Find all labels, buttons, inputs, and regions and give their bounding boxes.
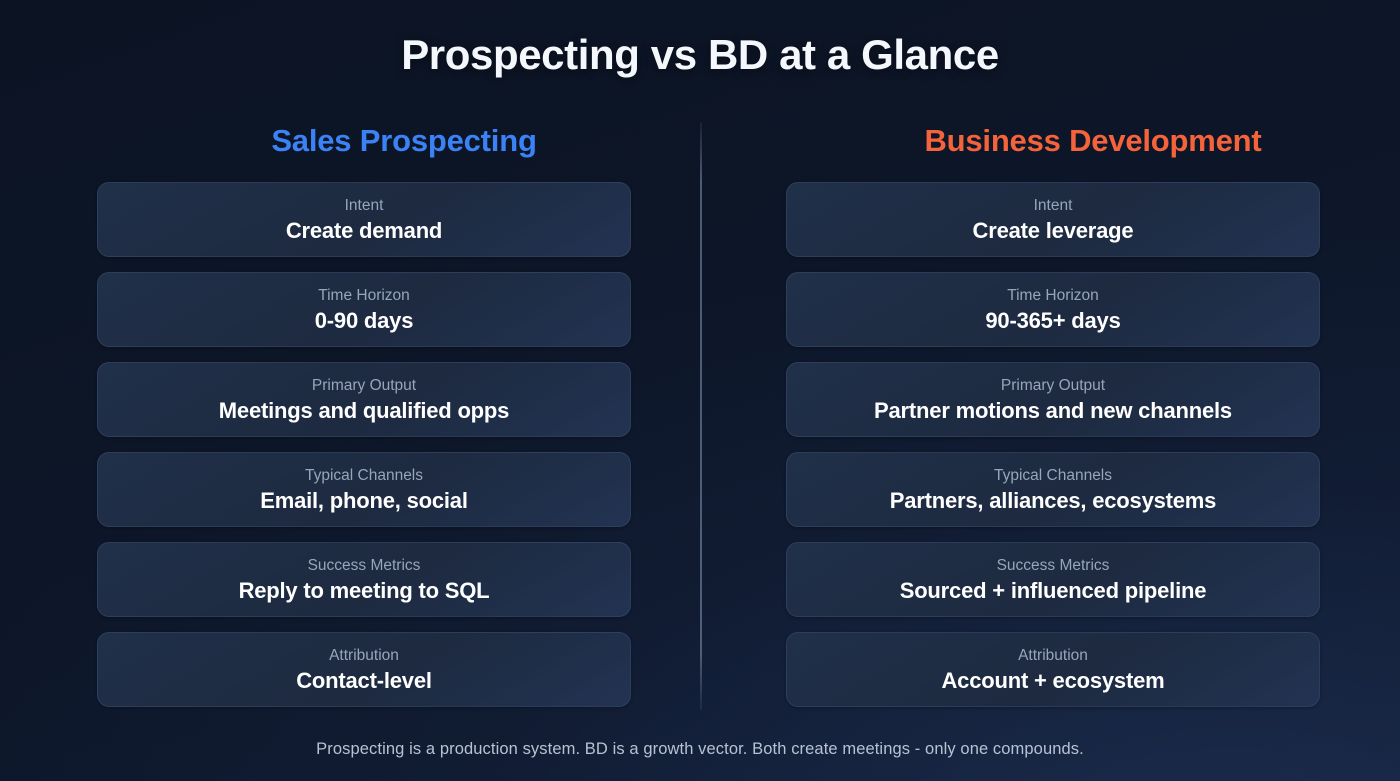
card-value: Account + ecosystem [941, 667, 1164, 694]
attribute-card[interactable]: Attribution Contact-level [97, 632, 631, 707]
card-label: Typical Channels [994, 466, 1112, 485]
column-divider [700, 122, 702, 710]
card-label: Typical Channels [305, 466, 423, 485]
column-heading-business-development: Business Development [786, 118, 1400, 182]
card-label: Time Horizon [318, 286, 410, 305]
card-label: Intent [345, 196, 384, 215]
attribute-card[interactable]: Time Horizon 90-365+ days [786, 272, 1320, 347]
card-label: Primary Output [1001, 376, 1105, 395]
card-value: Partner motions and new channels [874, 397, 1232, 424]
attribute-card[interactable]: Typical Channels Email, phone, social [97, 452, 631, 527]
attribute-card[interactable]: Primary Output Meetings and qualified op… [97, 362, 631, 437]
card-list-sales-prospecting: Intent Create demand Time Horizon 0-90 d… [97, 182, 711, 707]
card-label: Primary Output [312, 376, 416, 395]
page-title: Prospecting vs BD at a Glance [0, 31, 1400, 79]
attribute-card[interactable]: Intent Create demand [97, 182, 631, 257]
card-label: Success Metrics [308, 556, 421, 575]
column-heading-sales-prospecting: Sales Prospecting [97, 118, 711, 182]
attribute-card[interactable]: Attribution Account + ecosystem [786, 632, 1320, 707]
card-label: Attribution [329, 646, 399, 665]
card-value: Create demand [286, 217, 442, 244]
card-value: Meetings and qualified opps [219, 397, 509, 424]
card-value: 90-365+ days [985, 307, 1120, 334]
attribute-card[interactable]: Success Metrics Reply to meeting to SQL [97, 542, 631, 617]
footer-caption: Prospecting is a production system. BD i… [0, 740, 1400, 759]
card-value: Sourced + influenced pipeline [900, 577, 1207, 604]
attribute-card[interactable]: Primary Output Partner motions and new c… [786, 362, 1320, 437]
attribute-card[interactable]: Time Horizon 0-90 days [97, 272, 631, 347]
column-business-development: Business Development Intent Create lever… [786, 118, 1400, 707]
card-value: 0-90 days [315, 307, 414, 334]
card-value: Contact-level [296, 667, 432, 694]
attribute-card[interactable]: Success Metrics Sourced + influenced pip… [786, 542, 1320, 617]
card-label: Intent [1034, 196, 1073, 215]
attribute-card[interactable]: Intent Create leverage [786, 182, 1320, 257]
card-label: Attribution [1018, 646, 1088, 665]
attribute-card[interactable]: Typical Channels Partners, alliances, ec… [786, 452, 1320, 527]
card-label: Time Horizon [1007, 286, 1099, 305]
card-value: Partners, alliances, ecosystems [890, 487, 1216, 514]
card-list-business-development: Intent Create leverage Time Horizon 90-3… [786, 182, 1400, 707]
comparison-columns: Sales Prospecting Intent Create demand T… [0, 118, 1400, 718]
comparison-slide: Prospecting vs BD at a Glance Sales Pros… [0, 0, 1400, 781]
card-label: Success Metrics [997, 556, 1110, 575]
card-value: Email, phone, social [260, 487, 468, 514]
column-sales-prospecting: Sales Prospecting Intent Create demand T… [97, 118, 711, 707]
card-value: Create leverage [973, 217, 1134, 244]
card-value: Reply to meeting to SQL [239, 577, 490, 604]
